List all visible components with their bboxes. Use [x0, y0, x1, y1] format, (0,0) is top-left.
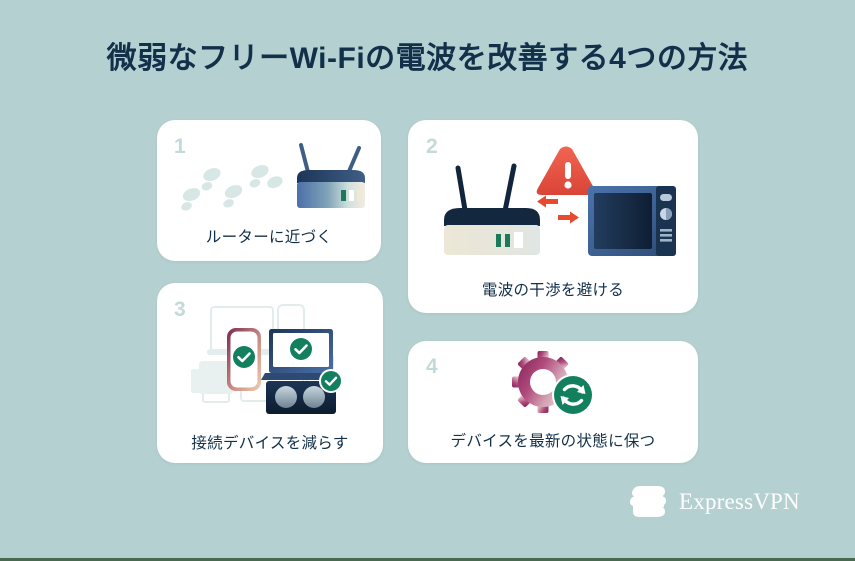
- card-step-3: 3: [157, 283, 383, 463]
- expressvpn-logo: ExpressVPN: [630, 485, 800, 519]
- brand-name: ExpressVPN: [679, 489, 800, 515]
- card-label: 電波の干渉を避ける: [408, 278, 698, 300]
- illustration-router-warning-microwave: [436, 146, 676, 256]
- card-label: ルーターに近づく: [157, 225, 381, 247]
- card-step-2: 2: [408, 120, 698, 313]
- card-number: 4: [426, 356, 438, 377]
- expressvpn-e-mark-icon: [630, 485, 668, 519]
- card-label: デバイスを最新の状態に保つ: [408, 429, 698, 451]
- card-label: 接続デバイスを減らす: [157, 431, 383, 453]
- page-title: 微弱なフリーWi-Fiの電波を改善する4つの方法: [0, 40, 855, 78]
- illustration-footprints-and-router: [169, 142, 369, 220]
- illustration-devices-with-checkmarks: [181, 301, 363, 419]
- card-step-4: 4: [408, 341, 698, 463]
- card-step-1: 1: [157, 120, 381, 261]
- infographic-canvas: 微弱なフリーWi-Fiの電波を改善する4つの方法 1: [0, 0, 855, 558]
- illustration-gear-and-refresh: [503, 351, 603, 423]
